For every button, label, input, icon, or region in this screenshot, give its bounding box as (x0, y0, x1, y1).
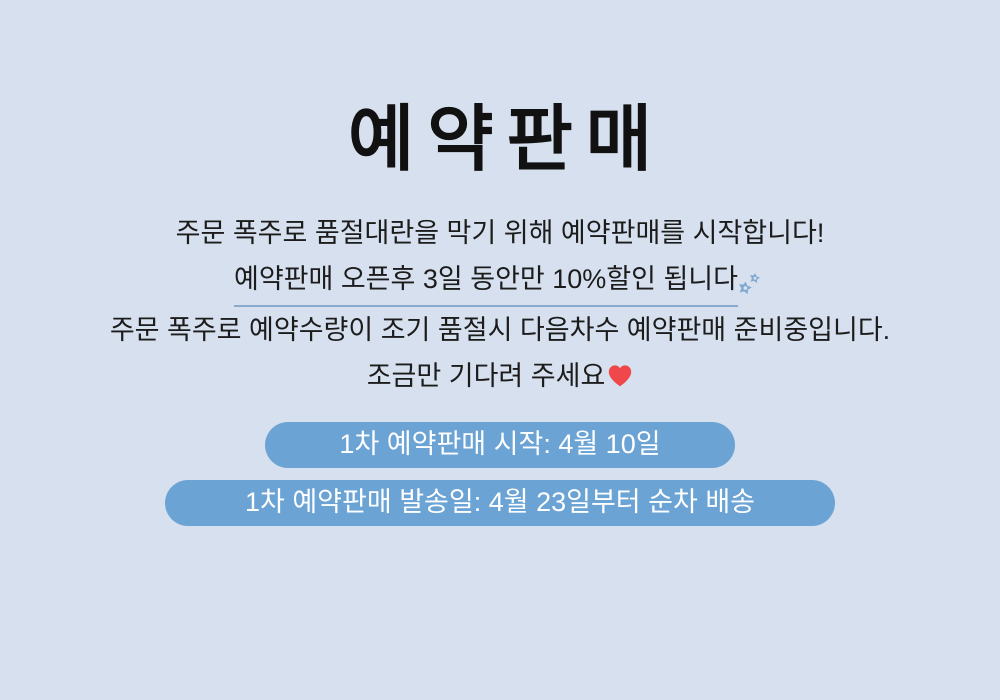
promo-line-4-row: 조금만 기다려 주세요 (367, 353, 634, 399)
promo-line-2-row: 예약판매 오픈후 3일 동안만 10%할인 됩니다 (234, 256, 766, 306)
preorder-promo-banner: 예약판매 주문 폭주로 품절대란을 막기 위해 예약판매를 시작합니다! 예약판… (0, 0, 1000, 700)
sparkles-icon (736, 265, 766, 295)
underline-rule (234, 305, 738, 307)
page-title: 예약판매 (335, 104, 665, 176)
promo-line-4-label: 조금만 기다려 주세요 (367, 361, 606, 391)
schedule-pill-group: 1차 예약판매 시작: 4월 10일 1차 예약판매 발송일: 4월 23일부터… (165, 422, 835, 526)
promo-line-3: 주문 폭주로 예약수량이 조기 품절시 다음차수 예약판매 준비중입니다. (110, 307, 890, 353)
pill-schedule-shipping[interactable]: 1차 예약판매 발송일: 4월 23일부터 순차 배송 (165, 480, 835, 526)
promo-line-2-underlined: 예약판매 오픈후 3일 동안만 10%할인 됩니다 (234, 256, 738, 306)
promo-line-2-label: 예약판매 오픈후 3일 동안만 10%할인 됩니다 (234, 264, 738, 294)
body-copy-block: 주문 폭주로 품절대란을 막기 위해 예약판매를 시작합니다! 예약판매 오픈후… (0, 210, 1000, 400)
pill-schedule-start[interactable]: 1차 예약판매 시작: 4월 10일 (265, 422, 735, 468)
heart-icon (607, 357, 633, 383)
promo-line-1: 주문 폭주로 품절대란을 막기 위해 예약판매를 시작합니다! (176, 210, 825, 256)
